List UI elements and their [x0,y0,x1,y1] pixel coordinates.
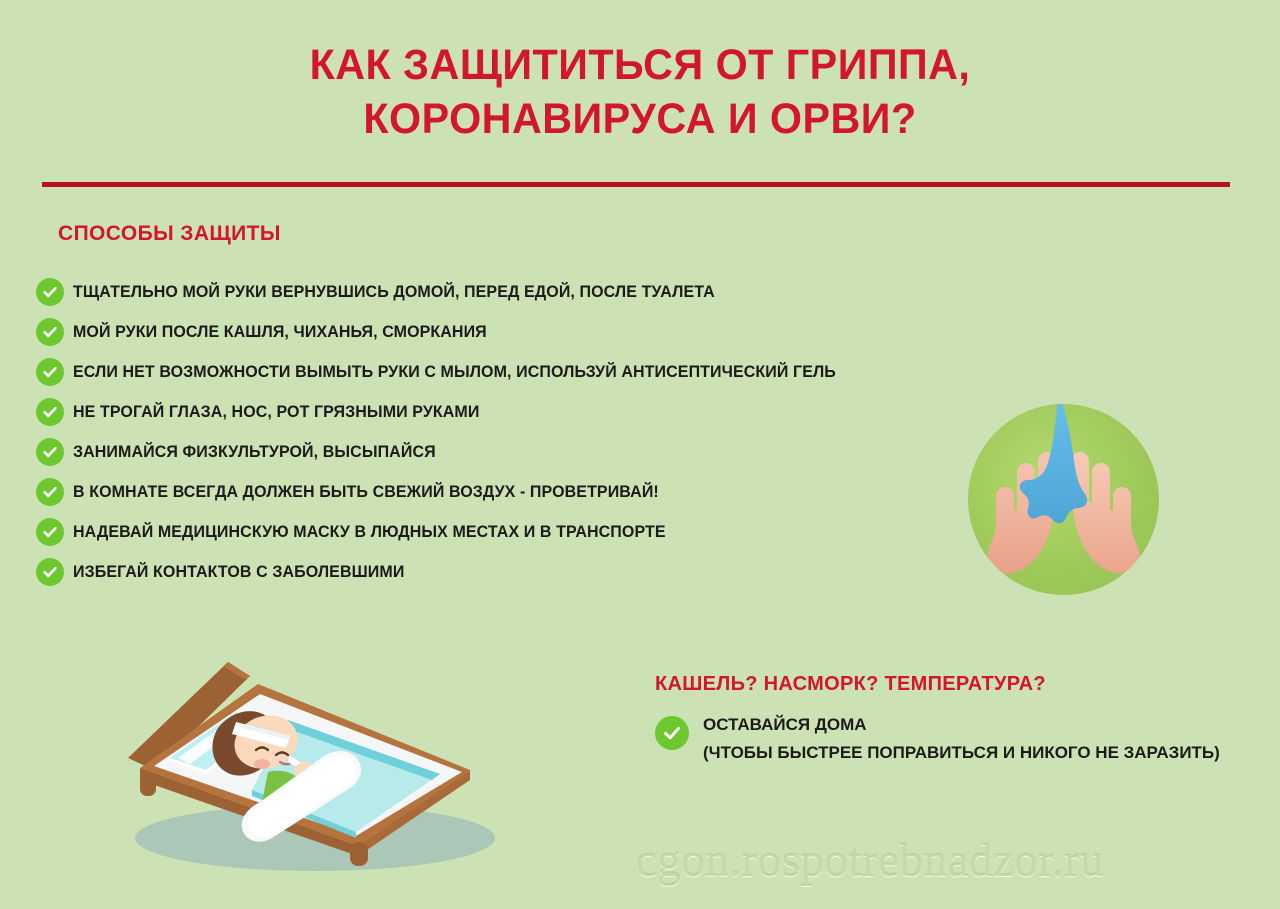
check-circle-icon [36,358,64,386]
list-item: НЕ ТРОГАЙ ГЛАЗА, НОС, РОТ ГРЯЗНЫМИ РУКАМ… [36,392,996,432]
bed-graphic [110,650,510,875]
title-line-2: КОРОНАВИРУСА И ОРВИ? [26,92,1255,146]
list-item: В КОМНАТЕ ВСЕГДА ДОЛЖЕН БЫТЬ СВЕЖИЙ ВОЗД… [36,472,996,512]
list-item: ЕСЛИ НЕТ ВОЗМОЖНОСТИ ВЫМЫТЬ РУКИ С МЫЛОМ… [36,352,996,392]
check-circle-icon [36,278,64,306]
list-item: МОЙ РУКИ ПОСЛЕ КАШЛЯ, ЧИХАНЬЯ, СМОРКАНИЯ [36,312,996,352]
sick-person-in-bed-illustration [110,650,510,875]
stay-home-row: ОСТАВАЙСЯ ДОМА (ЧТОБЫ БЫСТРЕЕ ПОПРАВИТЬС… [655,712,1255,768]
site-watermark: cgon.rospotrebnadzor.ru [636,833,1104,889]
title-divider-rule [42,182,1230,187]
check-circle-icon [36,438,64,466]
list-item-label: ЕСЛИ НЕТ ВОЗМОЖНОСТИ ВЫМЫТЬ РУКИ С МЫЛОМ… [73,363,836,382]
list-item-label: МОЙ РУКИ ПОСЛЕ КАШЛЯ, ЧИХАНЬЯ, СМОРКАНИЯ [73,323,487,342]
protection-section-heading: СПОСОБЫ ЗАЩИТЫ [58,222,281,246]
list-item-label: ИЗБЕГАЙ КОНТАКТОВ С ЗАБОЛЕВШИМИ [73,563,404,582]
check-circle-icon [655,716,689,750]
list-item-label: ЗАНИМАЙСЯ ФИЗКУЛЬТУРОЙ, ВЫСЫПАЙСЯ [73,443,436,462]
stay-home-primary-label: ОСТАВАЙСЯ ДОМА [703,712,1220,738]
list-item: НАДЕВАЙ МЕДИЦИНСКУЮ МАСКУ В ЛЮДНЫХ МЕСТА… [36,512,996,552]
protection-measures-list: ТЩАТЕЛЬНО МОЙ РУКИ ВЕРНУВШИСЬ ДОМОЙ, ПЕР… [36,272,996,592]
check-circle-icon [36,318,64,346]
stay-home-texts: ОСТАВАЙСЯ ДОМА (ЧТОБЫ БЫСТРЕЕ ПОПРАВИТЬС… [703,712,1220,768]
check-circle-icon [36,518,64,546]
check-circle-icon [36,478,64,506]
list-item-label: ТЩАТЕЛЬНО МОЙ РУКИ ВЕРНУВШИСЬ ДОМОЙ, ПЕР… [73,283,715,302]
stay-home-secondary-label: (ЧТОБЫ БЫСТРЕЕ ПОПРАВИТЬСЯ И НИКОГО НЕ З… [703,738,1220,768]
hands-and-water-graphic [968,404,1159,595]
list-item: ЗАНИМАЙСЯ ФИЗКУЛЬТУРОЙ, ВЫСЫПАЙСЯ [36,432,996,472]
washing-hands-illustration [968,404,1159,595]
list-item: ТЩАТЕЛЬНО МОЙ РУКИ ВЕРНУВШИСЬ ДОМОЙ, ПЕР… [36,272,996,312]
list-item-label: НАДЕВАЙ МЕДИЦИНСКУЮ МАСКУ В ЛЮДНЫХ МЕСТА… [73,523,666,542]
poster-title: КАК ЗАЩИТИТЬСЯ ОТ ГРИППА, КОРОНАВИРУСА И… [0,38,1280,146]
symptoms-heading: КАШЕЛЬ? НАСМОРК? ТЕМПЕРАТУРА? [655,673,1255,696]
symptoms-stay-home-block: КАШЕЛЬ? НАСМОРК? ТЕМПЕРАТУРА? ОСТАВАЙСЯ … [655,673,1255,768]
list-item: ИЗБЕГАЙ КОНТАКТОВ С ЗАБОЛЕВШИМИ [36,552,996,592]
check-circle-icon [36,398,64,426]
title-line-1: КАК ЗАЩИТИТЬСЯ ОТ ГРИППА, [26,38,1255,92]
list-item-label: В КОМНАТЕ ВСЕГДА ДОЛЖЕН БЫТЬ СВЕЖИЙ ВОЗД… [73,483,659,502]
list-item-label: НЕ ТРОГАЙ ГЛАЗА, НОС, РОТ ГРЯЗНЫМИ РУКАМ… [73,403,479,422]
check-circle-icon [36,558,64,586]
infographic-poster: КАК ЗАЩИТИТЬСЯ ОТ ГРИППА, КОРОНАВИРУСА И… [0,0,1280,909]
